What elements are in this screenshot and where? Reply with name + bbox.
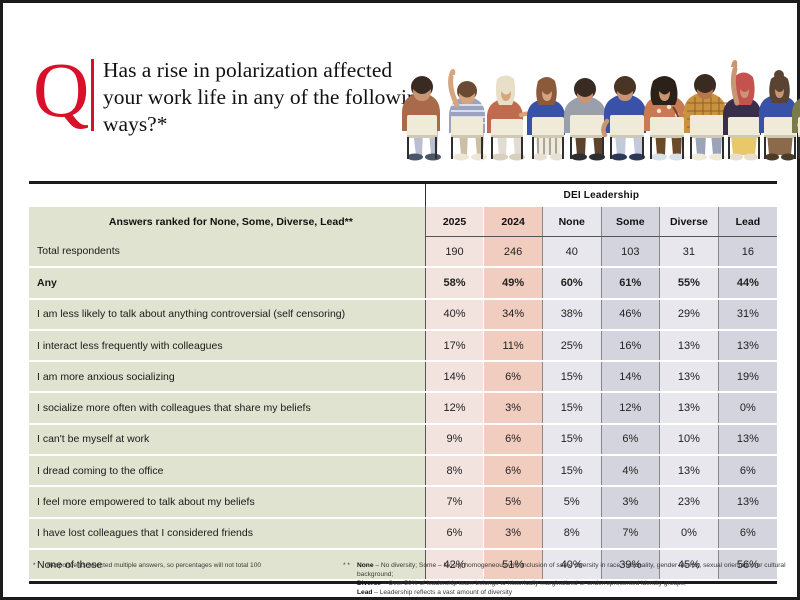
cell-2025: 8%: [425, 455, 484, 486]
cell-diverse: 13%: [660, 361, 719, 392]
cell-lead: 13%: [718, 486, 777, 517]
row-label: I dread coming to the office: [29, 455, 425, 486]
cell-2025: 40%: [425, 299, 484, 330]
cell-lead: 13%: [718, 424, 777, 455]
cell-diverse: 0%: [660, 518, 719, 549]
q-divider-rule: [91, 59, 94, 131]
cell-2025: 6%: [425, 518, 484, 549]
row-label: I interact less frequently with colleagu…: [29, 330, 425, 361]
cell-2025: 9%: [425, 424, 484, 455]
cell-2024: 3%: [484, 518, 543, 549]
group-header-row: DEI Leadership: [29, 184, 777, 207]
footnote-left-text: Respondents selected multiple answers, s…: [47, 561, 312, 570]
cell-2025: 17%: [425, 330, 484, 361]
cell-none: 15%: [542, 361, 601, 392]
cell-diverse: 31: [660, 237, 719, 268]
cell-none: 5%: [542, 486, 601, 517]
survey-table: DEI LeadershipAnswers ranked for None, S…: [29, 181, 777, 584]
table-row: I am less likely to talk about anything …: [29, 299, 777, 330]
cell-some: 61%: [601, 267, 660, 298]
footnote-def-none: – No diversity; Some – Mostly homogeneou…: [357, 562, 786, 578]
row-label: I have lost colleagues that I considered…: [29, 518, 425, 549]
cell-some: 16%: [601, 330, 660, 361]
footnote-left-marker: *: [33, 561, 47, 570]
results-table: DEI LeadershipAnswers ranked for None, S…: [29, 184, 777, 581]
cell-some: 103: [601, 237, 660, 268]
cell-diverse: 13%: [660, 455, 719, 486]
cell-diverse: 55%: [660, 267, 719, 298]
cell-some: 12%: [601, 392, 660, 423]
row-label: I am more anxious socializing: [29, 361, 425, 392]
cell-2024: 6%: [484, 361, 543, 392]
table-row: Any58%49%60%61%55%44%: [29, 267, 777, 298]
cell-none: 8%: [542, 518, 601, 549]
cell-2024: 49%: [484, 267, 543, 298]
footnote-term-diverse: Diverse: [357, 580, 381, 587]
cell-none: 40: [542, 237, 601, 268]
table-row: I dread coming to the office8%6%15%4%13%…: [29, 455, 777, 486]
column-header-some[interactable]: Some: [601, 207, 660, 237]
table-row: I am more anxious socializing14%6%15%14%…: [29, 361, 777, 392]
cell-some: 4%: [601, 455, 660, 486]
cell-some: 46%: [601, 299, 660, 330]
cell-2025: 58%: [425, 267, 484, 298]
cell-lead: 16: [718, 237, 777, 268]
cell-diverse: 29%: [660, 299, 719, 330]
cell-none: 15%: [542, 392, 601, 423]
table-row: Total respondents190246401033116: [29, 237, 777, 268]
cell-lead: 6%: [718, 455, 777, 486]
footnote-def-lead: – Leadership reflects a vast amount of d…: [372, 589, 512, 596]
footnote-left: *Respondents selected multiple answers, …: [33, 561, 323, 570]
column-header-diverse[interactable]: Diverse: [660, 207, 719, 237]
row-label: Any: [29, 267, 425, 298]
cell-lead: 19%: [718, 361, 777, 392]
cell-none: 25%: [542, 330, 601, 361]
cell-diverse: 10%: [660, 424, 719, 455]
cell-2024: 6%: [484, 455, 543, 486]
footnote-term-none: None: [357, 562, 373, 569]
footnote-term-lead: Lead: [357, 589, 372, 596]
footnote-right-text: None – No diversity; Some – Mostly homog…: [357, 561, 787, 597]
page-header: Q Has a rise in polarization affected yo…: [33, 55, 783, 167]
cell-2024: 5%: [484, 486, 543, 517]
q-logo-mark: Q: [33, 51, 89, 129]
row-label: I feel more empowered to talk about my b…: [29, 486, 425, 517]
row-label: I socialize more often with colleagues t…: [29, 392, 425, 423]
table-row: I feel more empowered to talk about my b…: [29, 486, 777, 517]
cell-2024: 34%: [484, 299, 543, 330]
table-row: I interact less frequently with colleagu…: [29, 330, 777, 361]
cell-some: 7%: [601, 518, 660, 549]
column-header-none[interactable]: None: [542, 207, 601, 237]
cell-diverse: 13%: [660, 330, 719, 361]
table-row: I can't be myself at work9%6%15%6%10%13%: [29, 424, 777, 455]
row-label: I am less likely to talk about anything …: [29, 299, 425, 330]
column-header-2025[interactable]: 2025: [425, 207, 484, 237]
column-header-row: Answers ranked for None, Some, Diverse, …: [29, 207, 777, 237]
table-row: I socialize more often with colleagues t…: [29, 392, 777, 423]
page-title: Has a rise in polarization affected your…: [103, 57, 433, 138]
group-header-spacer: [29, 184, 425, 207]
cell-lead: 31%: [718, 299, 777, 330]
footnote-right-marker: * *: [343, 561, 357, 570]
column-header-2024[interactable]: 2024: [484, 207, 543, 237]
cell-2025: 190: [425, 237, 484, 268]
cell-2025: 7%: [425, 486, 484, 517]
cell-some: 14%: [601, 361, 660, 392]
row-label: Total respondents: [29, 237, 425, 268]
cell-some: 3%: [601, 486, 660, 517]
cell-none: 60%: [542, 267, 601, 298]
cell-some: 6%: [601, 424, 660, 455]
seated-audience-illustration: [401, 45, 800, 163]
column-header-lead[interactable]: Lead: [718, 207, 777, 237]
cell-2024: 3%: [484, 392, 543, 423]
cell-diverse: 13%: [660, 392, 719, 423]
cell-2024: 6%: [484, 424, 543, 455]
cell-none: 15%: [542, 424, 601, 455]
page-root: Q Has a rise in polarization affected yo…: [0, 0, 800, 600]
cell-2024: 246: [484, 237, 543, 268]
cell-2025: 14%: [425, 361, 484, 392]
footnote-right: * * None – No diversity; Some – Mostly h…: [343, 561, 800, 597]
cell-lead: 44%: [718, 267, 777, 298]
cell-lead: 13%: [718, 330, 777, 361]
table-row: I have lost colleagues that I considered…: [29, 518, 777, 549]
group-header-dei-leadership: DEI Leadership: [425, 184, 777, 207]
row-label: I can't be myself at work: [29, 424, 425, 455]
cell-lead: 6%: [718, 518, 777, 549]
cell-2025: 12%: [425, 392, 484, 423]
cell-2024: 11%: [484, 330, 543, 361]
cell-diverse: 23%: [660, 486, 719, 517]
column-header-label: Answers ranked for None, Some, Diverse, …: [29, 207, 425, 237]
footnote-def-diverse: – Over 50% of leadership team belongs to…: [381, 580, 686, 587]
cell-none: 38%: [542, 299, 601, 330]
cell-none: 15%: [542, 455, 601, 486]
cell-lead: 0%: [718, 392, 777, 423]
